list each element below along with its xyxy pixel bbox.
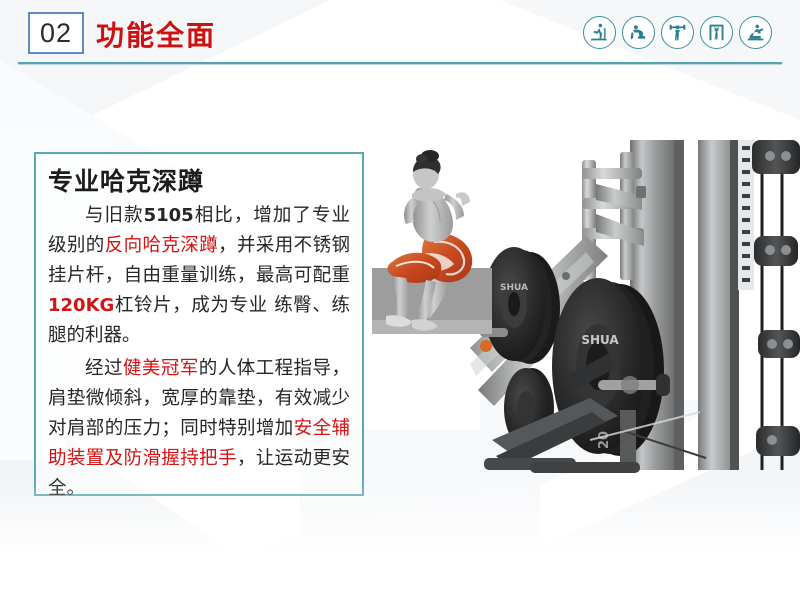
svg-text:SHUA: SHUA <box>581 333 619 347</box>
page-title: 功能全面 <box>96 14 216 54</box>
p1-accent-weight: 120KG <box>48 295 114 316</box>
p1-model-number: 5105 <box>144 205 194 226</box>
p1-seg1: 与旧款 <box>85 205 144 226</box>
person-lifting-weights-icon[interactable] <box>661 16 694 49</box>
description-panel: 专业哈克深蹲 与旧款5105相比，增加了专业级别的反向哈克深蹲，并采用不锈钢挂片… <box>34 152 364 496</box>
svg-text:20: 20 <box>597 431 612 449</box>
svg-text:SHUA: SHUA <box>500 283 528 293</box>
section-number: 02 <box>40 18 72 49</box>
panel-title: 专业哈克深蹲 <box>48 166 350 197</box>
seated-bench-icon[interactable] <box>622 16 655 49</box>
pullup-bar-icon[interactable] <box>700 16 733 49</box>
header-divider-shadow <box>18 64 782 65</box>
treadmill-running-icon[interactable] <box>583 16 616 49</box>
cycling-kneeling-icon[interactable] <box>739 16 772 49</box>
p1-accent-reverse-hack-squat: 反向哈克深蹲 <box>105 235 218 256</box>
section-number-box: 02 <box>28 12 84 54</box>
p2-seg1: 经过 <box>85 358 123 379</box>
paragraph-1: 与旧款5105相比，增加了专业级别的反向哈克深蹲，并采用不锈钢挂片杆，自由重量训… <box>48 201 350 351</box>
feature-icon-row <box>583 16 772 49</box>
anatomical-squat-illustration <box>372 150 492 340</box>
bottom-fade-overlay <box>0 480 800 600</box>
p2-accent-champion: 健美冠军 <box>123 358 199 379</box>
slide-root: SHUA SHUA 20 <box>0 0 800 600</box>
slide-header: 02 功能全面 <box>0 0 800 68</box>
hack-squat-machine-photo: SHUA SHUA 20 <box>470 140 800 480</box>
